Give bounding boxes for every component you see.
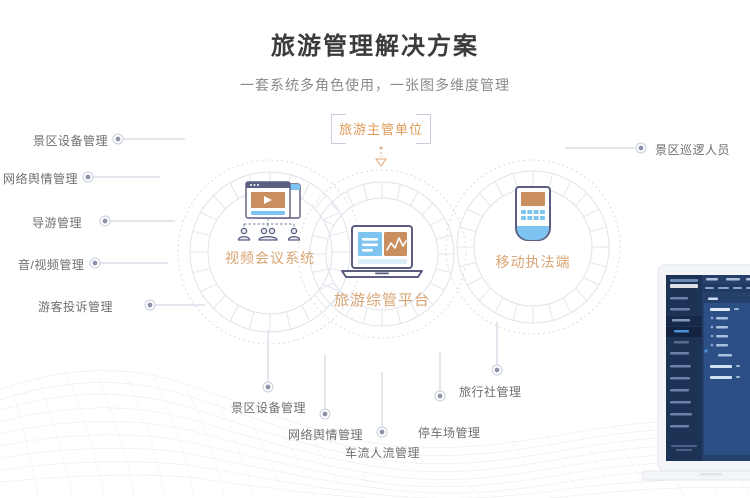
authority-badge-label: 旅游主管单位: [331, 114, 431, 142]
side-label-left-2[interactable]: 导游管理: [32, 214, 82, 231]
side-label-bottom-0[interactable]: 景区设备管理: [231, 399, 306, 416]
connector-dot: [377, 427, 387, 437]
node-tourism-platform-label: 旅游综管平台: [302, 289, 462, 310]
connector-dot: [492, 365, 502, 375]
handheld-terminal-icon: [508, 184, 558, 246]
authority-badge[interactable]: 旅游主管单位: [331, 114, 431, 142]
side-label-bottom-2[interactable]: 车流人流管理: [345, 444, 420, 461]
side-label-right-0[interactable]: 景区巡逻人员: [655, 141, 730, 158]
side-label-bottom-1[interactable]: 网络舆情管理: [288, 426, 363, 443]
video-conference-icon: [234, 180, 306, 242]
side-label-bottom-3[interactable]: 停车场管理: [418, 424, 481, 441]
connector-dot: [100, 216, 110, 226]
arrow-down-icon: [376, 147, 386, 166]
page-title: 旅游管理解决方案: [0, 26, 750, 61]
node-mobile-enforcement-label: 移动执法端: [453, 252, 613, 272]
side-label-left-0[interactable]: 景区设备管理: [33, 132, 108, 149]
connector-dot: [263, 382, 273, 392]
page-subtitle: 一套系统多角色使用，一张图多维度管理: [0, 75, 750, 95]
connector-dot: [320, 409, 330, 419]
laptop-dashboard-icon: [339, 225, 425, 283]
connector-dot: [145, 300, 155, 310]
connector-dot: [113, 134, 123, 144]
side-label-bottom-4[interactable]: 旅行社管理: [459, 383, 522, 400]
side-label-left-4[interactable]: 游客投诉管理: [38, 298, 113, 315]
node-mobile-enforcement[interactable]: 移动执法端: [453, 184, 613, 272]
side-label-left-3[interactable]: 音/视频管理: [18, 256, 84, 273]
connector-dot: [83, 172, 93, 182]
connector-dot: [435, 391, 445, 401]
page-header: 旅游管理解决方案 一套系统多角色使用，一张图多维度管理: [0, 0, 750, 95]
admin-dashboard-mockup: [640, 255, 750, 498]
side-label-left-1[interactable]: 网络舆情管理: [3, 170, 78, 187]
node-tourism-platform[interactable]: 旅游综管平台: [302, 225, 462, 310]
connector-dot: [636, 143, 646, 153]
connector-dot: [90, 258, 100, 268]
